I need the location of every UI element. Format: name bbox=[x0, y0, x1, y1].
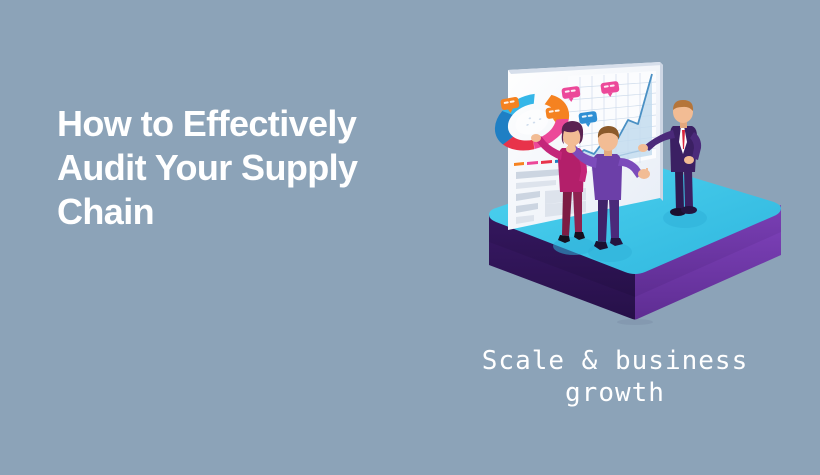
headline-line-2: Audit Your Supply bbox=[57, 146, 457, 190]
headline-line-1: How to Effectively bbox=[57, 102, 457, 146]
page-title: How to Effectively Audit Your Supply Cha… bbox=[57, 102, 457, 234]
banner: How to Effectively Audit Your Supply Cha… bbox=[0, 0, 820, 475]
presenter-hand-right bbox=[684, 156, 694, 164]
platform-shadow bbox=[617, 319, 653, 325]
male-purple-hand-left bbox=[566, 145, 576, 153]
caption-line-1: Scale & business bbox=[440, 345, 790, 377]
caption-line-2: growth bbox=[440, 377, 790, 409]
isometric-illustration bbox=[470, 50, 800, 340]
headline-line-3: Chain bbox=[57, 190, 457, 234]
presenter-hand-left bbox=[638, 144, 648, 152]
caption: Scale & business growth bbox=[440, 345, 790, 409]
male-purple-hand-right bbox=[638, 169, 650, 179]
female-hand bbox=[531, 134, 541, 142]
